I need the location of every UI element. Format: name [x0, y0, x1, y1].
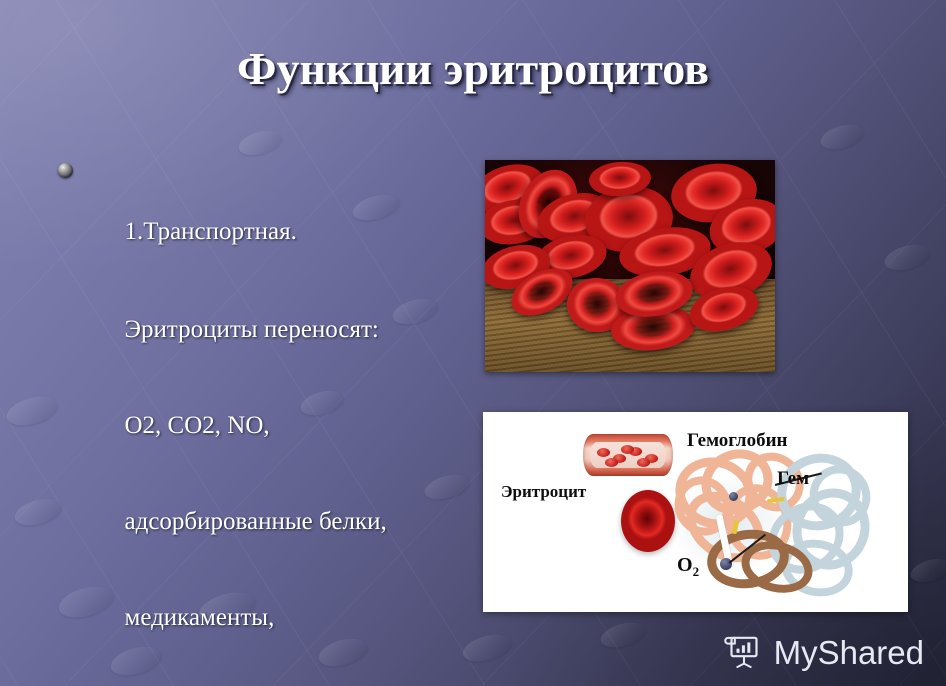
heme-group-dot: [729, 492, 738, 501]
background-blob: [598, 618, 648, 652]
bullet-list: 1.Транспортная. Эритроциты переносят: O2…: [44, 152, 464, 686]
vessel-blood-cell: [637, 458, 650, 467]
vessel-blood-cell: [621, 445, 634, 454]
vessel-blood-cell: [605, 458, 618, 467]
background-blob: [882, 240, 933, 275]
label-oxygen-subscript: 2: [693, 564, 700, 579]
list-item-label: O2, CO2, NO,: [125, 412, 270, 439]
myshared-logo[interactable]: MyShared: [724, 632, 924, 672]
list-item-continuation: физиологически активные: [44, 666, 464, 686]
erythrocyte-disc: [621, 490, 675, 552]
list-item: 1.Транспортная.: [44, 152, 464, 280]
label-oxygen-symbol: O: [677, 554, 693, 576]
label-oxygen: O2: [677, 554, 699, 580]
label-hemoglobin: Гемоглобин: [687, 430, 787, 452]
list-item-continuation: O2, CO2, NO,: [44, 378, 464, 474]
list-item-continuation: адсорбированные белки,: [44, 474, 464, 570]
presentation-chart-icon: [724, 632, 764, 672]
label-heme: Гем: [777, 468, 809, 490]
list-item-continuation: Эритроциты переносят:: [44, 282, 464, 378]
hemoglobin-diagram: Эритроцит Гемоглобин Гем O2: [483, 412, 908, 612]
bullet-sphere-icon: [58, 163, 73, 178]
vessel-blood-cell: [597, 448, 610, 457]
presentation-slide: Функции эритроцитов 1.Транспортная. Эрит…: [0, 0, 946, 686]
blood-vessel-illustration: [583, 434, 673, 476]
list-item-label: адсорбированные белки,: [125, 508, 387, 535]
red-blood-cells-photo: [485, 160, 775, 372]
background-blob: [818, 120, 866, 153]
page-title: Функции эритроцитов: [0, 42, 946, 95]
label-erythrocyte: Эритроцит: [501, 482, 586, 502]
background-blob: [908, 555, 946, 587]
list-item-label: Эритроциты переносят:: [125, 316, 379, 343]
list-item-continuation: медикаменты,: [44, 570, 464, 666]
list-item-label: медикаменты,: [125, 604, 275, 631]
background-blob: [460, 630, 515, 667]
myshared-wordmark: MyShared: [774, 636, 924, 669]
list-item-label: 1.Транспортная.: [125, 218, 297, 245]
hemoglobin-structure: [671, 448, 861, 594]
